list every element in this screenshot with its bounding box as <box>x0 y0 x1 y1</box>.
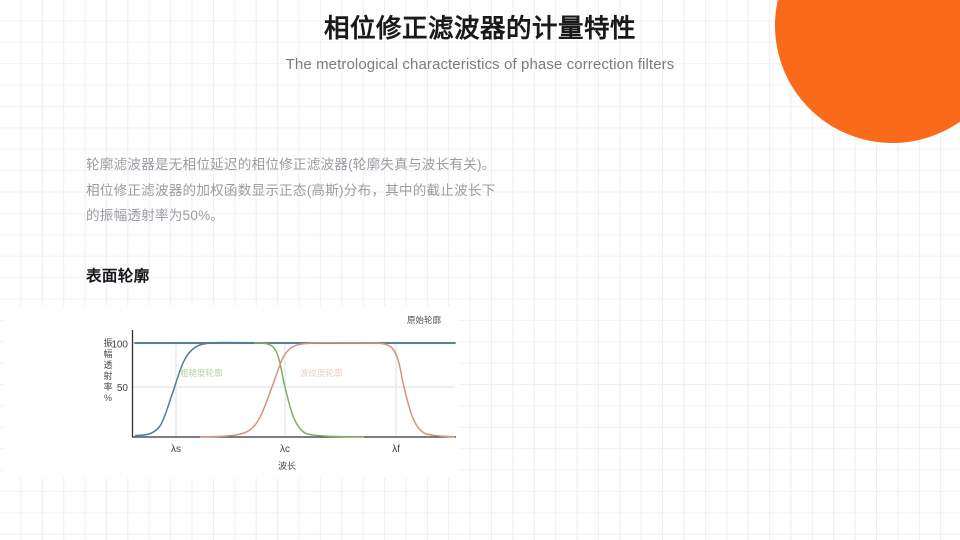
slide-header: 相位修正滤波器的计量特性 The metrological characteri… <box>0 12 960 73</box>
y-tick-50: 50 <box>117 383 129 394</box>
series-label-waviness-profile: 波纹度轮廓 <box>300 368 343 378</box>
page-title: 相位修正滤波器的计量特性 <box>0 12 960 46</box>
page-subtitle: The metrological characteristics of phas… <box>0 56 960 73</box>
x-axis-title: 波长 <box>278 460 296 471</box>
annotation-original-profile: 原始轮廓 <box>407 315 442 325</box>
x-tick-lambda-s: λs <box>171 444 181 455</box>
section-heading: 表面轮廓 <box>86 264 150 286</box>
y-axis-title-char-5: % <box>104 393 112 403</box>
body-paragraph: 轮廓滤波器是无相位延迟的相位修正滤波器(轮廓失真与波长有关)。相位修正滤波器的加… <box>86 152 506 229</box>
chart-svg: 100 50 振 幅 透 射 率 % 粗糙度轮廓 波纹 <box>4 306 459 478</box>
surface-profile-chart: 100 50 振 幅 透 射 率 % 粗糙度轮廓 波纹 <box>4 306 459 478</box>
y-axis-title-char-1: 幅 <box>103 348 112 359</box>
x-tick-lambda-c: λc <box>280 444 290 455</box>
y-axis-title-char-2: 透 <box>103 360 112 370</box>
y-tick-100: 100 <box>111 340 128 351</box>
y-axis-title-char-4: 率 <box>103 381 112 392</box>
series-label-roughness-profile: 粗糙度轮廓 <box>180 368 223 378</box>
chart-background <box>4 306 459 478</box>
y-axis-title-char-0: 振 <box>103 337 112 348</box>
y-axis-title-char-3: 射 <box>103 370 112 381</box>
slide-canvas: 相位修正滤波器的计量特性 The metrological characteri… <box>0 0 960 540</box>
x-tick-lambda-f: λf <box>392 444 400 455</box>
